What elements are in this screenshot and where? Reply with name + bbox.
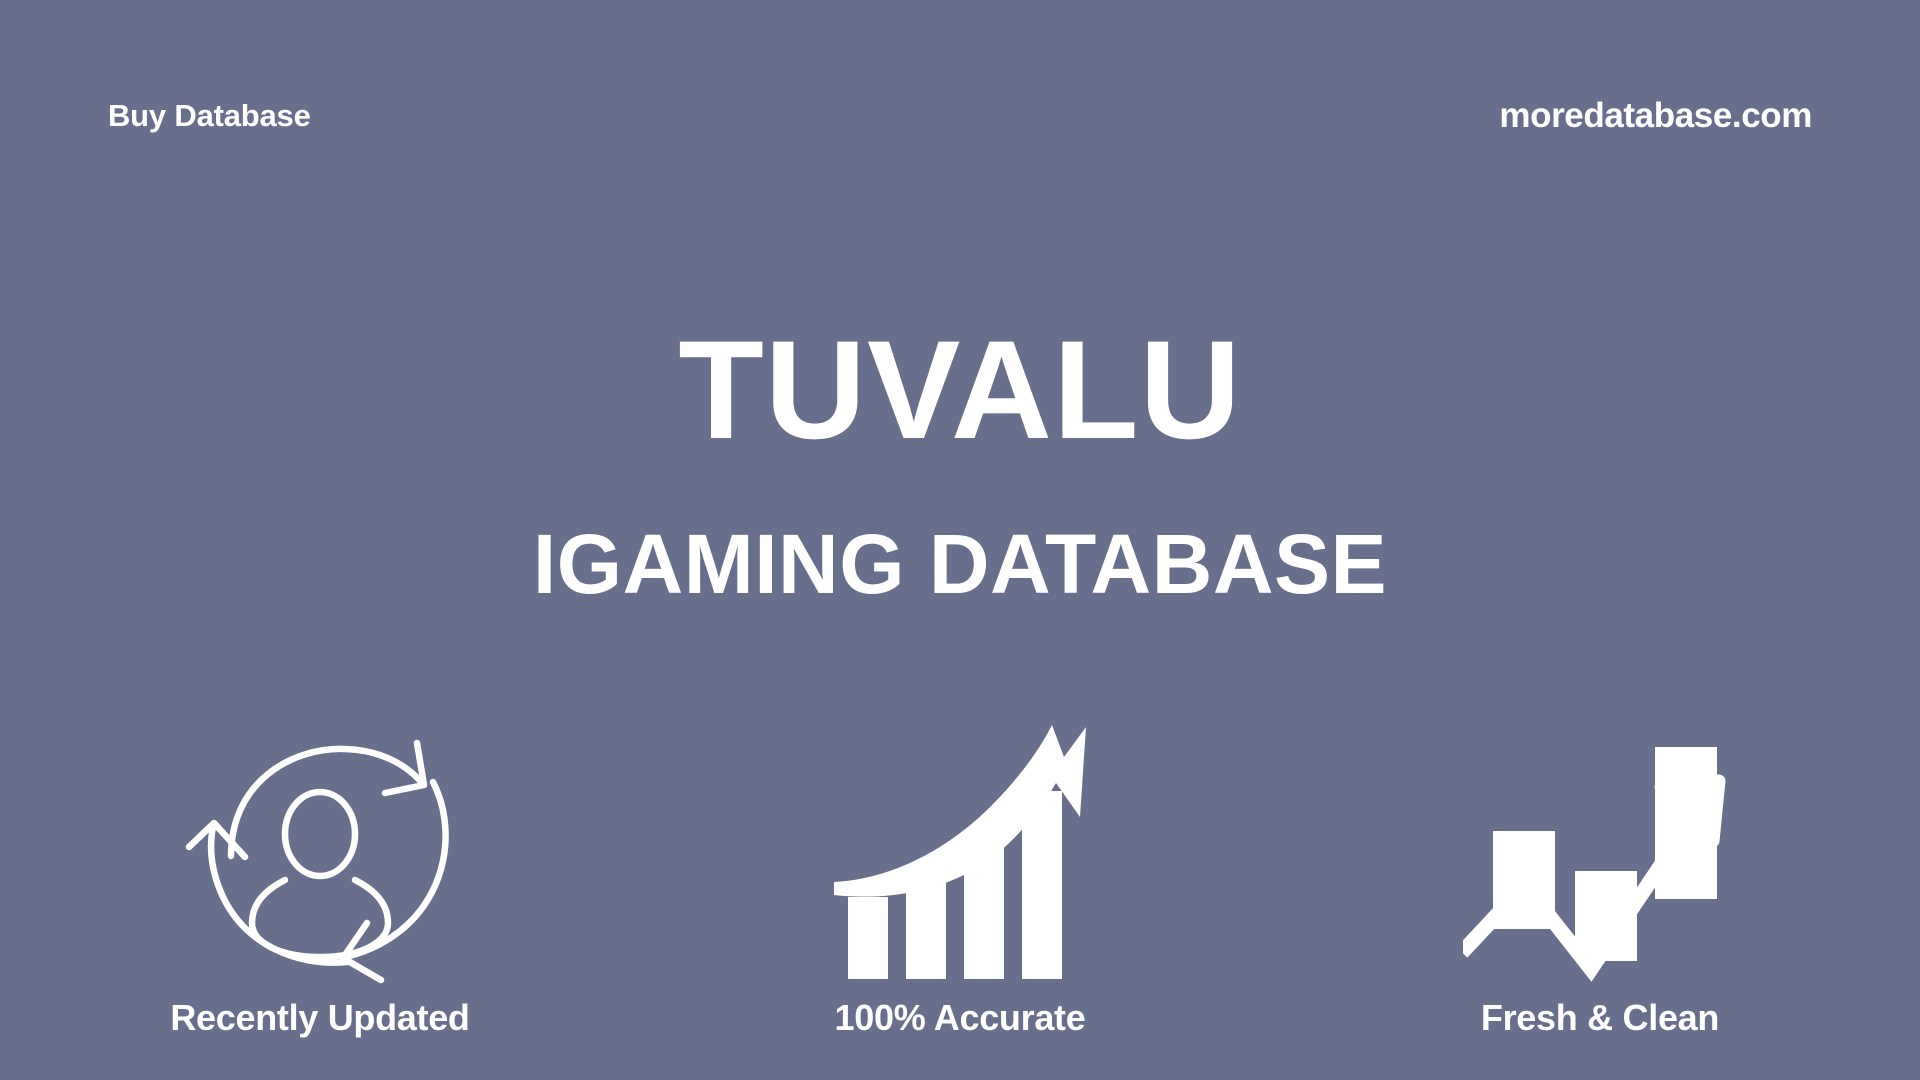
feature-label: Recently Updated (170, 1000, 469, 1036)
feature-item: Fresh & Clean (1340, 716, 1860, 1036)
growth-bar-chart-arrow-icon (828, 716, 1093, 986)
page-title: TUVALU (0, 320, 1920, 460)
feature-label: Fresh & Clean (1481, 1000, 1719, 1036)
feature-item: 100% Accurate (700, 716, 1220, 1036)
bar-chart-trendline-arrow-icon (1463, 716, 1738, 986)
promo-banner: Buy Database moredatabase.com TUVALU IGA… (0, 0, 1920, 1080)
feature-label: 100% Accurate (835, 1000, 1086, 1036)
recycle-person-icon (185, 716, 455, 986)
brand-label: Buy Database (108, 100, 311, 131)
feature-row: Recently Updated 100% Accurate (0, 676, 1920, 1036)
hero-section: TUVALU IGAMING DATABASE (0, 320, 1920, 606)
page-subtitle: IGAMING DATABASE (0, 522, 1920, 606)
header-bar: Buy Database moredatabase.com (0, 0, 1920, 230)
site-url-label: moredatabase.com (1499, 98, 1812, 133)
feature-item: Recently Updated (60, 716, 580, 1036)
